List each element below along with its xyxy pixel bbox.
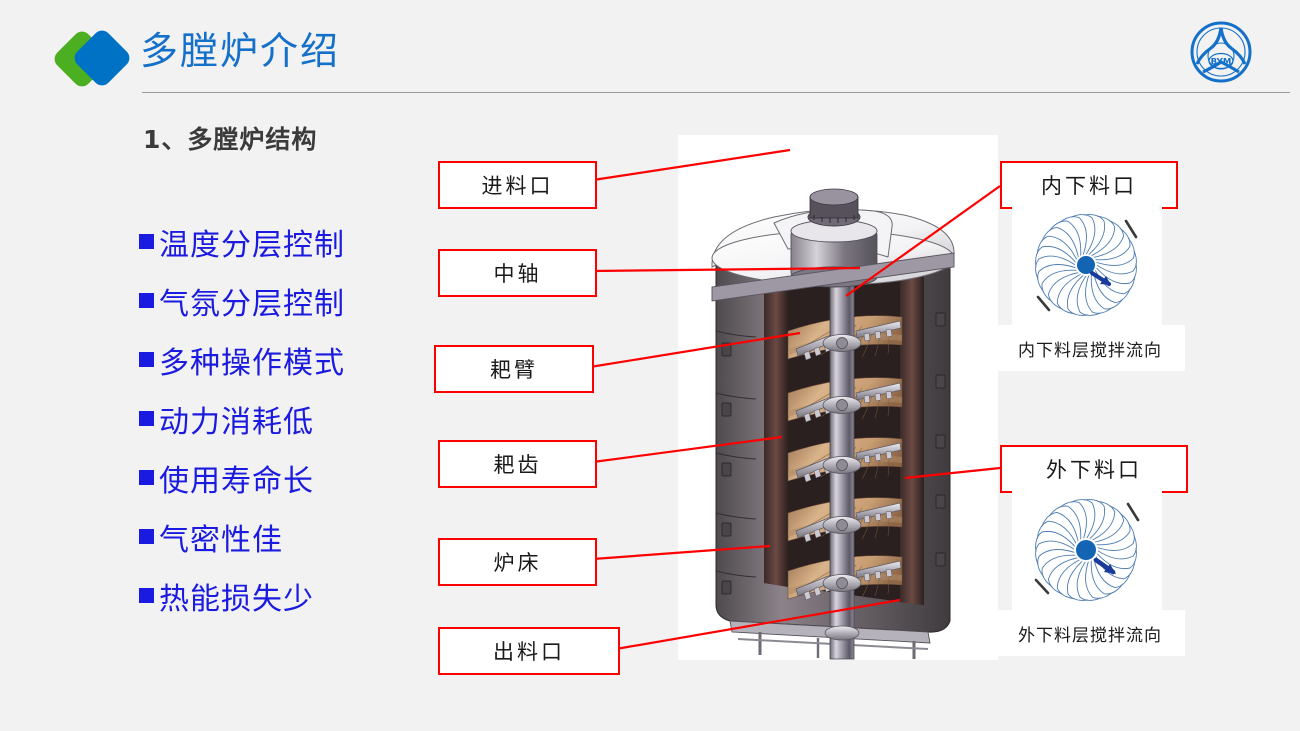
callout-label: 炉床: [494, 547, 542, 577]
bym-circular-logo: BYM: [1189, 20, 1253, 84]
outer-discharge-stirring-flow-caption: 外下料层搅拌流向: [995, 610, 1185, 656]
caption-label: 内下料层搅拌流向: [1018, 336, 1162, 361]
title-underline: [142, 92, 1290, 93]
feature-list: 温度分层控制 气氛分层控制 多种操作模式 动力消耗低 使用寿命长 气密性佳 热能…: [139, 212, 439, 625]
list-item: 多种操作模式: [139, 330, 439, 389]
page-title: 多膛炉介绍: [140, 32, 340, 70]
caption-label: 外下料层搅拌流向: [1018, 621, 1162, 646]
callout-label: 耙臂: [490, 354, 538, 384]
callout-center-shaft[interactable]: 中轴: [438, 249, 597, 297]
inner-discharge-stirring-flow-caption: 内下料层搅拌流向: [995, 325, 1185, 371]
bullet-square-icon: [139, 529, 154, 544]
list-item: 动力消耗低: [139, 389, 439, 448]
section-heading: 1、多膛炉结构: [143, 120, 317, 156]
outer-discharge-stirring-flow-figure: [1012, 490, 1162, 610]
bullet-square-icon: [139, 411, 154, 426]
callout-label: 内下料口: [1041, 170, 1137, 200]
list-item: 气氛分层控制: [139, 271, 439, 330]
list-item-label: 气氛分层控制: [159, 279, 345, 323]
list-item-label: 气密性佳: [159, 515, 283, 559]
callout-rake-arm[interactable]: 耙臂: [434, 345, 594, 393]
list-item-label: 使用寿命长: [159, 456, 314, 500]
callout-outer-discharge-port[interactable]: 外下料口: [1000, 445, 1188, 493]
callout-label: 外下料口: [1046, 454, 1142, 484]
list-item-label: 温度分层控制: [159, 220, 345, 264]
list-item-label: 动力消耗低: [159, 397, 314, 441]
bullet-square-icon: [139, 588, 154, 603]
list-item: 热能损失少: [139, 566, 439, 625]
furnace-cutaway-image: [678, 135, 998, 660]
bullet-square-icon: [139, 470, 154, 485]
callout-discharge-outlet[interactable]: 出料口: [438, 627, 620, 675]
callout-inner-discharge-port[interactable]: 内下料口: [1000, 161, 1178, 209]
list-item: 使用寿命长: [139, 448, 439, 507]
callout-label: 进料口: [482, 170, 554, 200]
bym-logo-text: BYM: [1211, 58, 1232, 68]
callout-label: 中轴: [494, 258, 542, 288]
bullet-square-icon: [139, 293, 154, 308]
bullet-square-icon: [139, 234, 154, 249]
callout-label: 耙齿: [494, 449, 542, 479]
list-item-label: 热能损失少: [159, 574, 314, 618]
inner-discharge-stirring-flow-figure: [1012, 205, 1162, 325]
callout-rabble-teeth[interactable]: 耙齿: [438, 440, 597, 488]
slide-canvas: 多膛炉介绍 BYM 1、多膛炉结构 温度分层控制 气氛分层控制 多种操作模式: [0, 0, 1300, 731]
diamond-logo: [60, 28, 138, 90]
list-item: 温度分层控制: [139, 212, 439, 271]
callout-hearth[interactable]: 炉床: [438, 538, 597, 586]
list-item: 气密性佳: [139, 507, 439, 566]
callout-feed-inlet[interactable]: 进料口: [438, 161, 597, 209]
callout-label: 出料口: [493, 636, 565, 666]
list-item-label: 多种操作模式: [159, 338, 345, 382]
bullet-square-icon: [139, 352, 154, 367]
